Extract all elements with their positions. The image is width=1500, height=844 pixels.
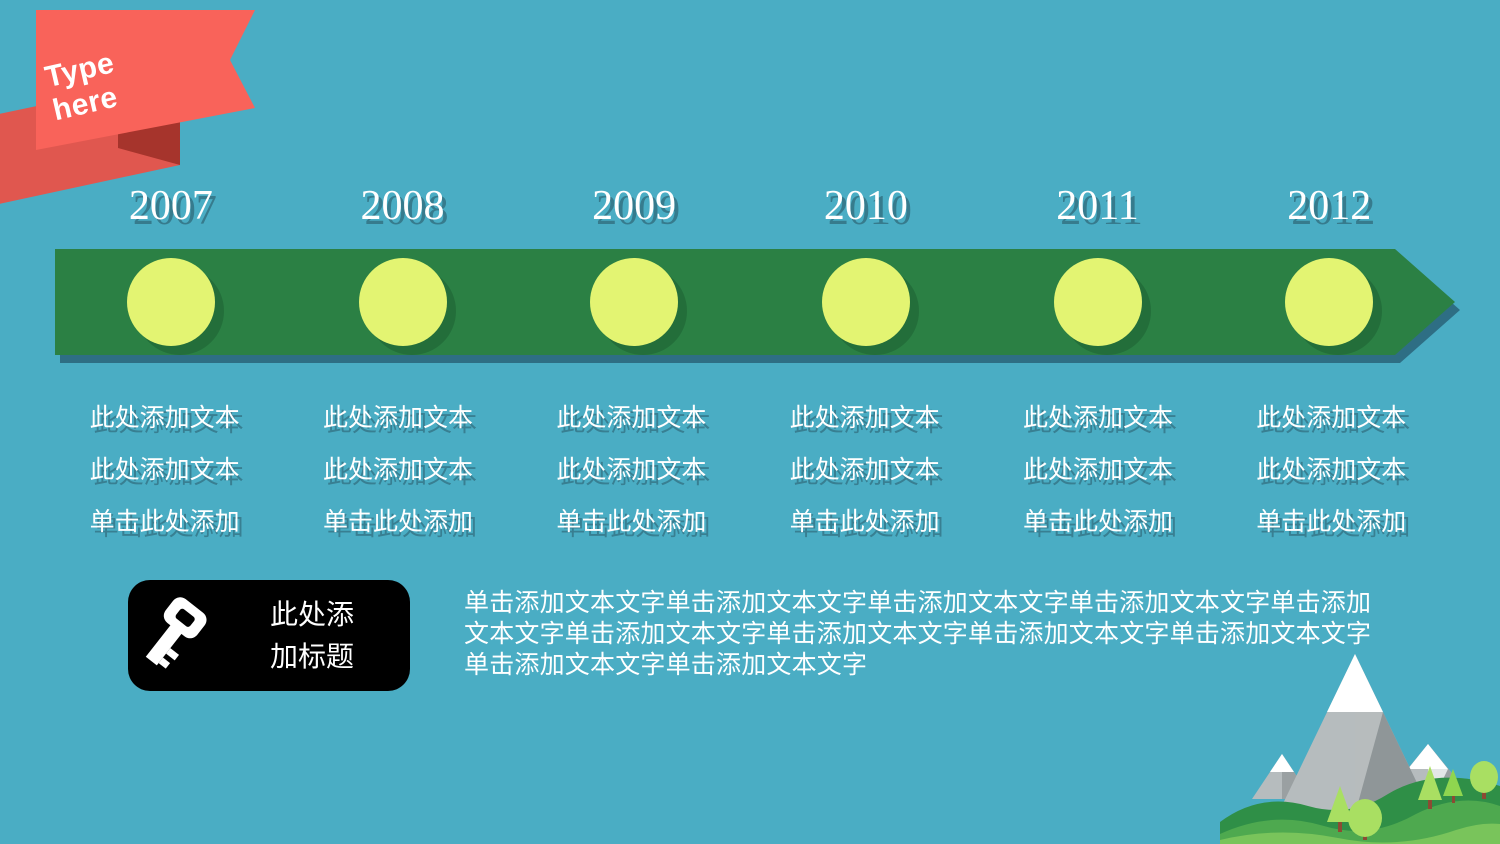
badge-title: 此处添 加标题 (224, 594, 410, 678)
timeline-caption-4[interactable]: 此处添加文本 此处添加文本 单击此处添加 (748, 392, 981, 548)
node-cell-2 (287, 258, 519, 346)
node-cell-6 (1213, 258, 1445, 346)
timeline-caption-5[interactable]: 此处添加文本 此处添加文本 单击此处添加 (981, 392, 1214, 548)
caption-3-line-1: 此处添加文本 (515, 392, 748, 444)
caption-1-line-1: 此处添加文本 (48, 392, 281, 444)
node-cell-4 (750, 258, 982, 346)
caption-4-line-1: 此处添加文本 (748, 392, 981, 444)
caption-6-line-3: 单击此处添加 (1215, 496, 1448, 548)
timeline-caption-1[interactable]: 此处添加文本 此处添加文本 单击此处添加 (48, 392, 281, 548)
caption-2-line-1: 此处添加文本 (281, 392, 514, 444)
slide-canvas: Type here 2007 2008 2009 2010 2011 2012 (0, 0, 1500, 844)
timeline-caption-3[interactable]: 此处添加文本 此处添加文本 单击此处添加 (515, 392, 748, 548)
badge-title-line-1: 此处添 (224, 594, 400, 636)
year-label-2011[interactable]: 2011 (982, 182, 1214, 234)
year-label-2007[interactable]: 2007 (55, 182, 287, 234)
node-cell-5 (982, 258, 1214, 346)
caption-6-line-2: 此处添加文本 (1215, 444, 1448, 496)
caption-2-line-3: 单击此处添加 (281, 496, 514, 548)
year-label-2009[interactable]: 2009 (518, 182, 750, 234)
timeline-node-2007[interactable] (127, 258, 215, 346)
timeline-node-2012[interactable] (1285, 258, 1373, 346)
node-cell-1 (55, 258, 287, 346)
timeline-node-2011[interactable] (1054, 258, 1142, 346)
timeline-nodes-row (55, 249, 1445, 355)
year-label-2010[interactable]: 2010 (750, 182, 982, 234)
ribbon-text: Type here (42, 28, 203, 128)
caption-3-line-3: 单击此处添加 (515, 496, 748, 548)
timeline-node-2009[interactable] (590, 258, 678, 346)
badge-title-line-2: 加标题 (224, 636, 400, 678)
timeline-node-2008[interactable] (359, 258, 447, 346)
key-icon (128, 580, 224, 691)
caption-4-line-3: 单击此处添加 (748, 496, 981, 548)
caption-5-line-3: 单击此处添加 (981, 496, 1214, 548)
year-label-2012[interactable]: 2012 (1213, 182, 1445, 234)
caption-1-line-2: 此处添加文本 (48, 444, 281, 496)
caption-5-line-2: 此处添加文本 (981, 444, 1214, 496)
year-label-2008[interactable]: 2008 (287, 182, 519, 234)
timeline-captions-row: 此处添加文本 此处添加文本 单击此处添加 此处添加文本 此处添加文本 单击此处添… (48, 392, 1448, 548)
timeline-caption-2[interactable]: 此处添加文本 此处添加文本 单击此处添加 (281, 392, 514, 548)
caption-1-line-3: 单击此处添加 (48, 496, 281, 548)
node-cell-3 (518, 258, 750, 346)
caption-3-line-2: 此处添加文本 (515, 444, 748, 496)
timeline-caption-6[interactable]: 此处添加文本 此处添加文本 单击此处添加 (1215, 392, 1448, 548)
caption-6-line-1: 此处添加文本 (1215, 392, 1448, 444)
body-paragraph[interactable]: 单击添加文本文字单击添加文本文字单击添加文本文字单击添加文本文字单击添加文本文字… (464, 588, 1382, 681)
section-title-badge[interactable]: 此处添 加标题 (128, 580, 410, 691)
timeline-node-2010[interactable] (822, 258, 910, 346)
caption-2-line-2: 此处添加文本 (281, 444, 514, 496)
year-labels-row: 2007 2008 2009 2010 2011 2012 (55, 182, 1445, 234)
caption-4-line-2: 此处添加文本 (748, 444, 981, 496)
caption-5-line-1: 此处添加文本 (981, 392, 1214, 444)
